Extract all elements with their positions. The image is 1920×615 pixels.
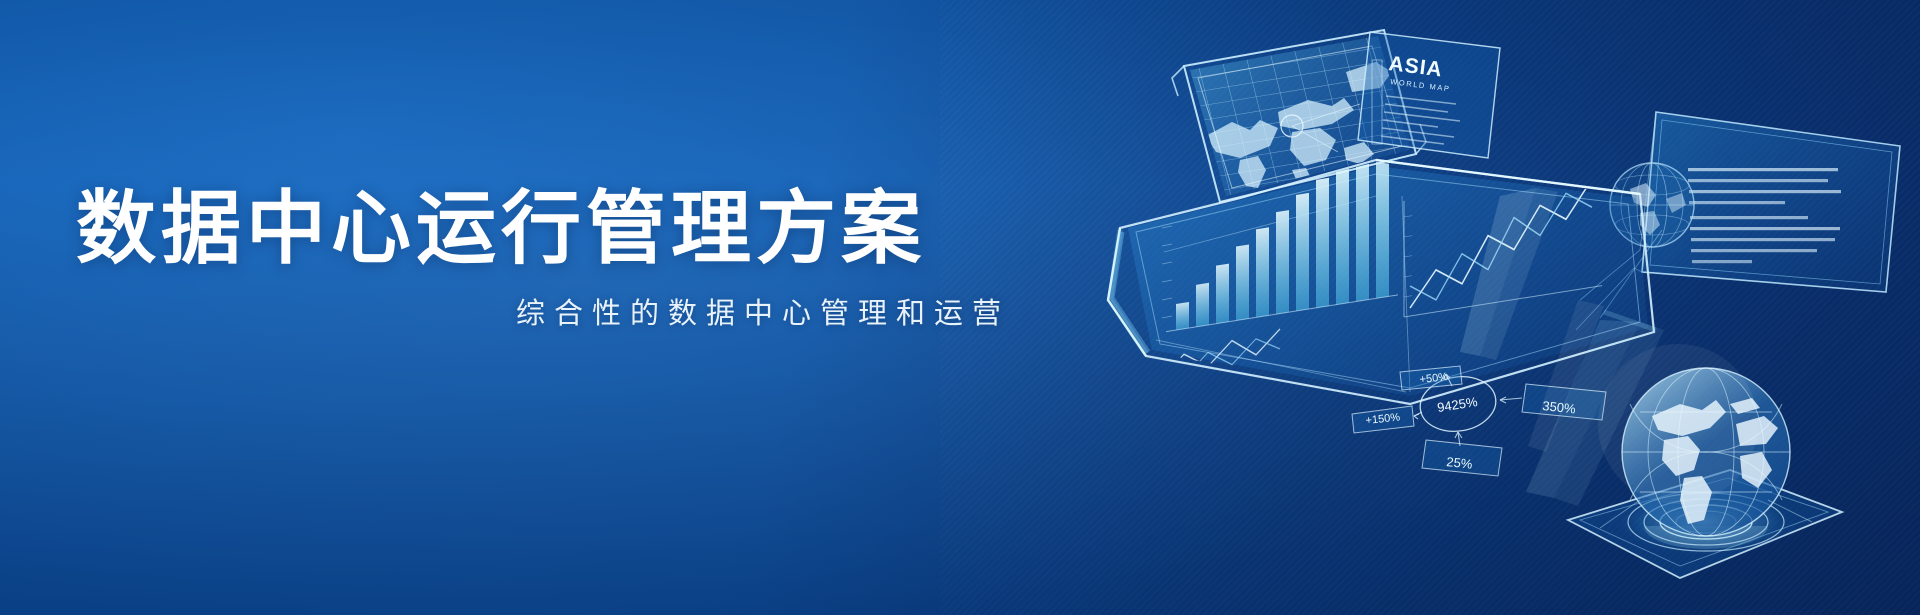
metric-bottom-value: 25% [1446, 454, 1474, 472]
hologram-illustration: ASIA WORLD MAP [940, 0, 1920, 615]
metric-center-value: 9425% [1436, 394, 1479, 415]
banner-copy: 数据中心运行管理方案 综合性的数据中心管理和运营 [76, 186, 1026, 332]
hologram-svg: ASIA WORLD MAP [940, 0, 1920, 615]
page-title: 数据中心运行管理方案 [76, 186, 1026, 272]
hero-banner: 数据中心运行管理方案 综合性的数据中心管理和运营 [0, 0, 1920, 615]
asia-info-card: ASIA WORLD MAP [1358, 32, 1500, 158]
page-subtitle: 综合性的数据中心管理和运营 [76, 290, 1026, 332]
